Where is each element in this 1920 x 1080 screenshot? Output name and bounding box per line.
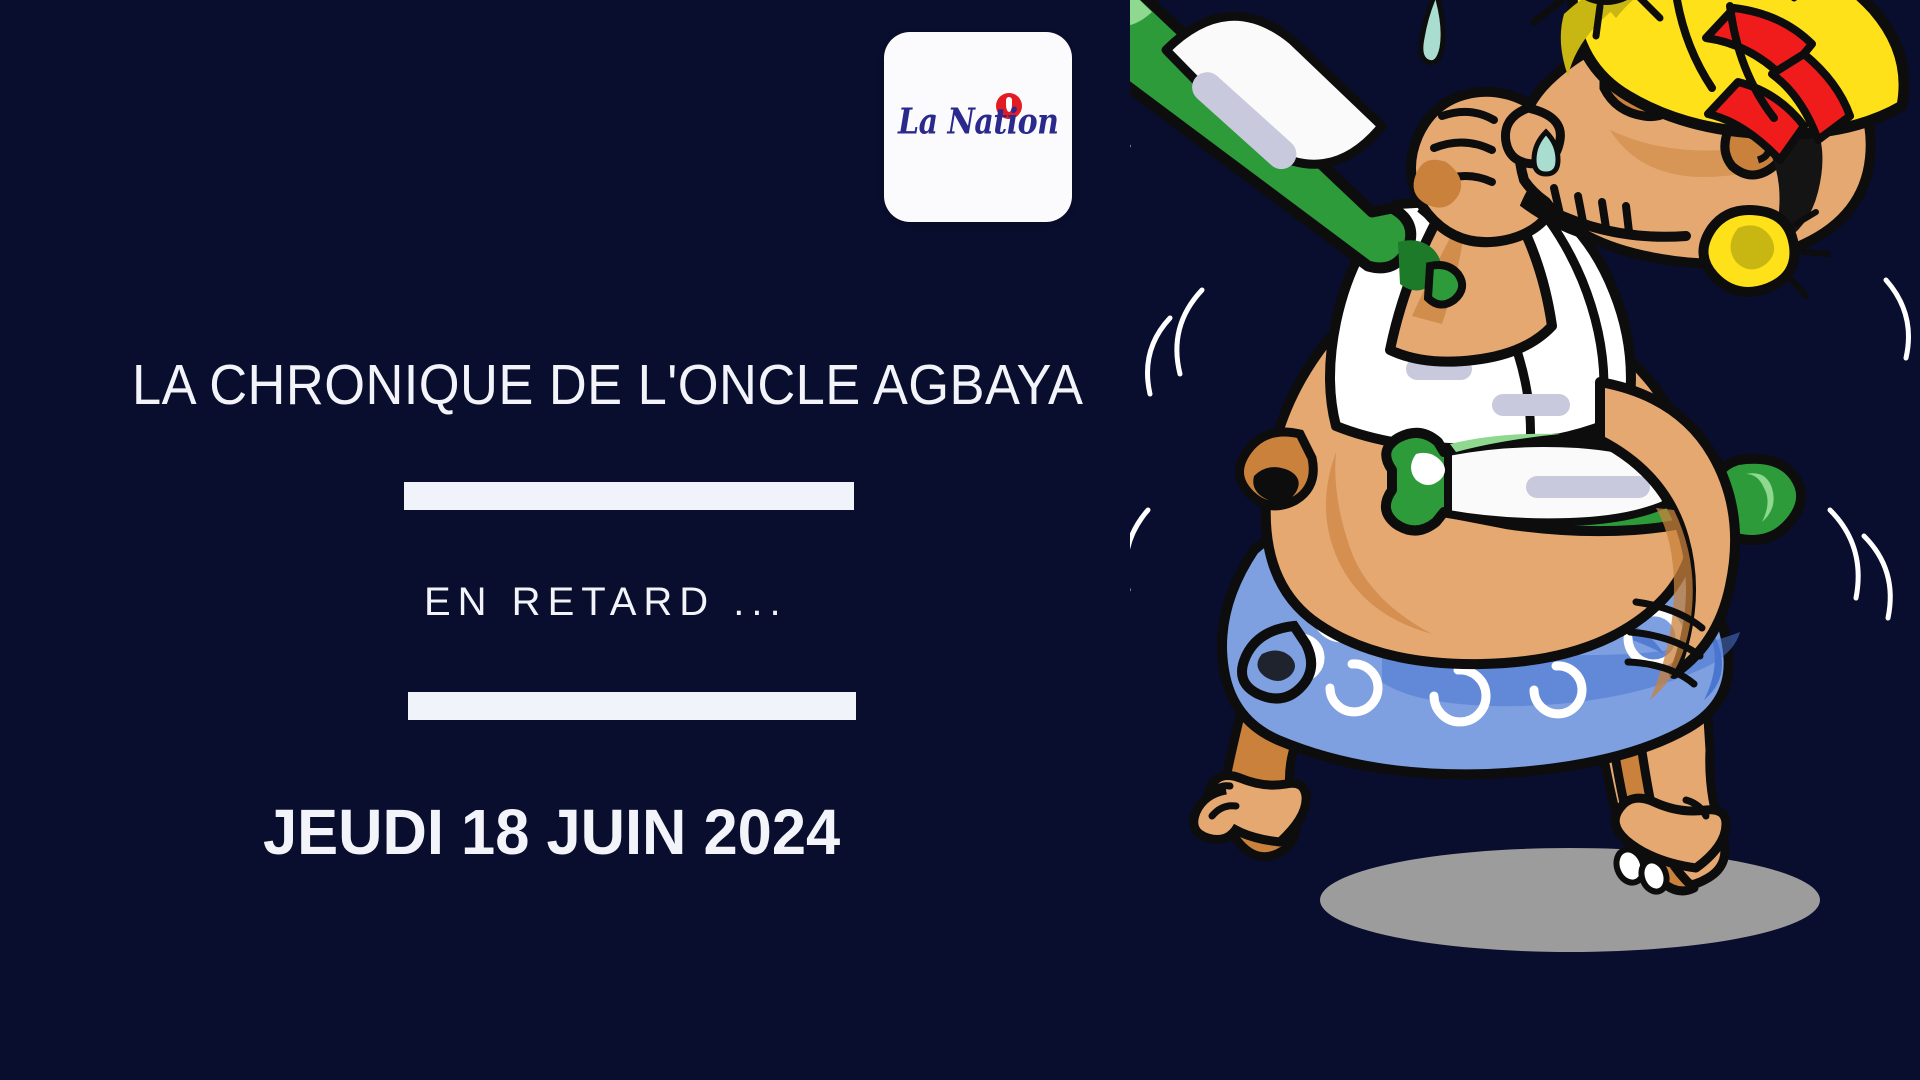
divider-rule-bottom bbox=[408, 692, 856, 720]
motion-lines-right bbox=[1830, 280, 1909, 618]
motion-lines-left bbox=[1130, 290, 1202, 612]
logo-wordmark: La Nation bbox=[898, 102, 1058, 143]
poster-canvas: La Nation LA CHRONIQUE DE L'ONCLE AGBAYA… bbox=[0, 0, 1920, 1080]
subtitle: EN RETARD ... bbox=[424, 580, 788, 625]
publication-date: JEUDI 18 JUIN 2024 bbox=[263, 795, 840, 869]
la-nation-logo-card: La Nation bbox=[884, 32, 1072, 222]
cartoon-man-drinking-beer-illustration bbox=[1130, 0, 1920, 1080]
logo-lockup: La Nation bbox=[898, 97, 1058, 157]
ground-shadow bbox=[1320, 848, 1820, 952]
page-title: LA CHRONIQUE DE L'ONCLE AGBAYA bbox=[132, 352, 1084, 418]
divider-rule-top bbox=[404, 482, 854, 510]
